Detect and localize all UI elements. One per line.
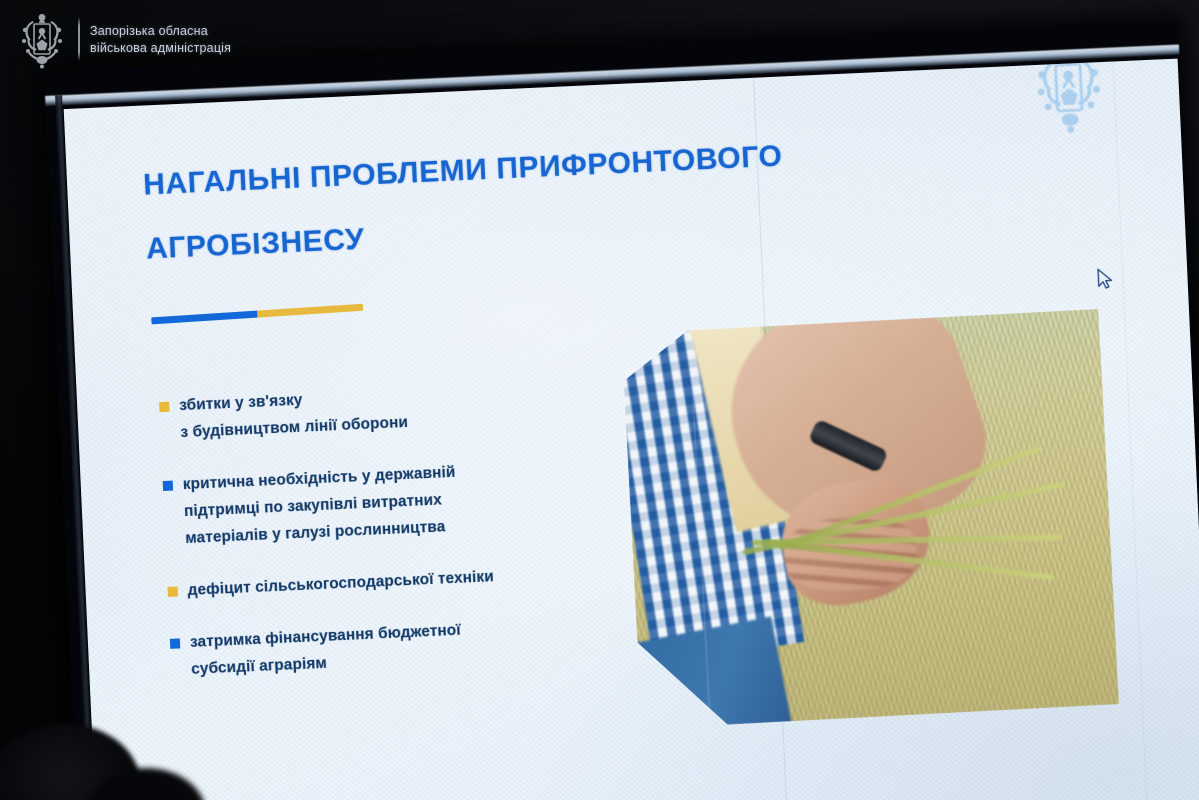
org-line-1: Запорізька обласна [90, 24, 231, 38]
projection-screen: НАГАЛЬНІ ПРОБЛЕМИ ПРИФРОНТОВОГО АГРОБІЗН… [44, 21, 1199, 800]
bullet-marker-icon [170, 638, 180, 648]
slide-surface: НАГАЛЬНІ ПРОБЛЕМИ ПРИФРОНТОВОГО АГРОБІЗН… [64, 59, 1199, 800]
bullet-text: критична необхідність у державній підтри… [182, 459, 458, 552]
list-item: затримка фінансування бюджетної субсидії… [169, 609, 631, 684]
bullet-marker-icon [163, 481, 173, 491]
bullet-3-line-1: дефіцит сільськогосподарської техніки [187, 563, 494, 604]
coat-of-arms-icon [12, 8, 72, 70]
coat-of-arms-watermark-icon [1020, 59, 1117, 142]
presentation-screenshot: Запорізька обласна військова адміністрац… [0, 0, 1199, 800]
slide-title-line-1: НАГАЛЬНІ ПРОБЛЕМИ ПРИФРОНТОВОГО [142, 140, 783, 202]
bullet-text: затримка фінансування бюджетної субсидії… [189, 617, 462, 683]
bullet-text: збитки у зв'язку з будівництвом лінії об… [179, 382, 409, 446]
mouse-pointer-icon [1096, 268, 1115, 291]
bullet-marker-icon [167, 586, 177, 596]
organisation-name: Запорізька обласна військова адміністрац… [90, 24, 231, 55]
list-item: критична необхідність у державній підтри… [162, 451, 625, 553]
list-item: дефіцит сільськогосподарської техніки [167, 557, 628, 605]
bullet-marker-icon [159, 402, 169, 412]
organisation-logo: Запорізька обласна військова адміністрац… [12, 8, 231, 70]
org-line-2: військова адміністрація [90, 41, 231, 55]
bullet-list: збитки у зв'язку з будівництвом лінії об… [159, 372, 633, 709]
bullet-text: дефіцит сільськогосподарської техніки [187, 563, 494, 604]
farmer-holding-wheat-photo [621, 309, 1119, 729]
logo-divider [78, 17, 80, 61]
